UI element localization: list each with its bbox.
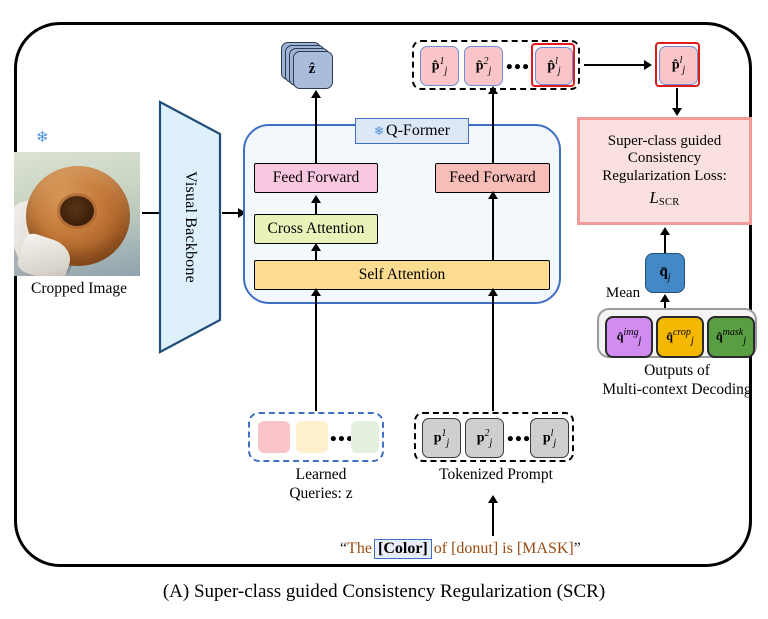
arrow-mc-to-qbar-head <box>660 294 670 302</box>
prompt-token-l-label: plj <box>543 428 556 448</box>
prompt-token-ellipsis: ••• <box>507 430 531 449</box>
prompt-part-1: The <box>347 540 372 558</box>
prompt-part-2: of [donut] is [MASK] <box>434 540 574 558</box>
q-hat-img-chip: q̂imgj <box>605 316 653 358</box>
q-hat-img-label: q̂imgj <box>617 327 641 346</box>
figure-caption: (A) Super-class guided Consistency Regul… <box>0 581 768 603</box>
multi-context-label-line-2: Multi-context Decoding <box>602 381 751 400</box>
prompt-close-quote: ” <box>574 540 581 558</box>
snowflake-icon: ❄ <box>374 125 384 137</box>
figure-canvas: Cropped Image Visual Backbone ❄ ❄ Q-Form… <box>0 0 768 619</box>
learned-queries-label-line-1: Learned <box>296 466 347 485</box>
arrow-prompt-to-selfattn-line <box>492 293 494 411</box>
q-hat-crop-chip: q̂cropj <box>656 316 704 358</box>
arrow-queries-to-selfattn-head <box>311 288 321 296</box>
multi-context-label-line-1: Outputs of <box>644 362 710 381</box>
predicted-token-l: p̂lj <box>535 47 573 85</box>
selected-token: p̂lj <box>659 46 698 85</box>
arrow-sentence-to-prompt-head <box>488 495 498 503</box>
predicted-token-1: p̂1j <box>420 46 459 86</box>
arrow-sentence-to-prompt-line <box>492 500 494 536</box>
arrow-pred-to-selected-line <box>584 64 648 66</box>
arrow-selfattn-to-ff-right-line <box>492 196 494 260</box>
block-cross-attention: Cross Attention <box>254 214 378 244</box>
prompt-token-1: p1j <box>422 418 461 458</box>
arrow-ff-to-zhat-line <box>315 96 317 164</box>
prompt-color-token[interactable]: [Color] <box>374 539 432 559</box>
visual-backbone: Visual Backbone <box>156 98 224 356</box>
qformer-tag: ❄ Q-Former <box>355 118 469 144</box>
arrow-qbar-to-loss-line <box>664 232 666 254</box>
prompt-token-2: p2j <box>465 418 504 458</box>
predicted-token-2-label: p̂2j <box>476 56 492 76</box>
tokenized-prompt-label: Tokenized Prompt <box>408 466 584 484</box>
prompt-token-l: plj <box>530 418 569 458</box>
cropped-image-thumbnail <box>14 152 140 276</box>
selected-token-label: p̂lj <box>672 55 685 75</box>
loss-line-3: Regularization Loss: <box>602 168 727 186</box>
z-hat-label: ẑ <box>293 51 331 87</box>
arrow-ff-right-to-pred-line <box>492 92 494 164</box>
q-hat-mask-chip: q̂maskj <box>707 316 755 358</box>
arrow-crossattn-to-ff-head <box>311 195 321 203</box>
learned-query-swatch-2 <box>296 421 328 453</box>
predicted-token-1-label: p̂1j <box>432 56 448 76</box>
prompt-sentence: “The [Color] of [donut] is [MASK] ” <box>340 536 680 562</box>
multi-context-label: Outputs of Multi-context Decoding <box>588 362 766 399</box>
block-feed-forward-left: Feed Forward <box>254 163 378 193</box>
learned-queries-label: Learned Queries: z <box>245 466 397 503</box>
loss-line-1: Super-class guided <box>602 133 727 151</box>
mean-label: Mean <box>596 285 650 302</box>
q-hat-crop-label: q̂cropj <box>666 327 693 346</box>
arrow-ff-to-zhat-head <box>311 90 321 98</box>
arrow-selected-to-loss-head <box>672 108 682 116</box>
q-hat-mask-label: q̂maskj <box>716 327 746 346</box>
cropped-image-label: Cropped Image <box>6 280 152 298</box>
qformer-tag-label: Q-Former <box>386 122 450 140</box>
learned-query-swatch-3 <box>351 421 379 453</box>
arrow-selected-to-loss-line <box>676 88 678 110</box>
learned-query-swatch-1 <box>258 421 290 453</box>
arrow-pred-to-selected-head <box>644 60 652 70</box>
arrow-queries-to-selfattn-line <box>315 293 317 411</box>
q-bar-box: q̄j <box>645 253 685 293</box>
prompt-token-1-label: p1j <box>434 428 450 448</box>
loss-box: Super-class guided Consistency Regulariz… <box>577 117 752 225</box>
arrow-selfattn-to-crossattn-head <box>311 243 321 251</box>
predicted-token-l-label: p̂lj <box>547 56 560 76</box>
prompt-token-2-label: p2j <box>477 428 493 448</box>
block-feed-forward-right: Feed Forward <box>435 163 550 193</box>
loss-symbol: LSCR <box>602 188 727 209</box>
arrow-qbar-to-loss-head <box>660 227 670 235</box>
arrow-prompt-to-selfattn-head <box>488 288 498 296</box>
visual-backbone-label: Visual Backbone <box>156 98 224 356</box>
arrow-selfattn-to-ff-right-head <box>488 191 498 199</box>
z-hat-token-stack: ẑ <box>281 42 333 90</box>
snowflake-icon: ❄ <box>36 128 49 147</box>
block-self-attention: Self Attention <box>254 260 550 290</box>
prompt-open-quote: “ <box>340 540 347 558</box>
multi-context-outputs-group: q̂imgj q̂cropj q̂maskj <box>597 308 757 358</box>
loss-line-2: Consistency <box>602 150 727 168</box>
predicted-token-2: p̂2j <box>464 46 503 86</box>
learned-queries-label-line-2: Queries: z <box>289 485 352 504</box>
predicted-token-ellipsis: ••• <box>506 58 530 77</box>
q-bar-label: q̄j <box>659 264 670 283</box>
